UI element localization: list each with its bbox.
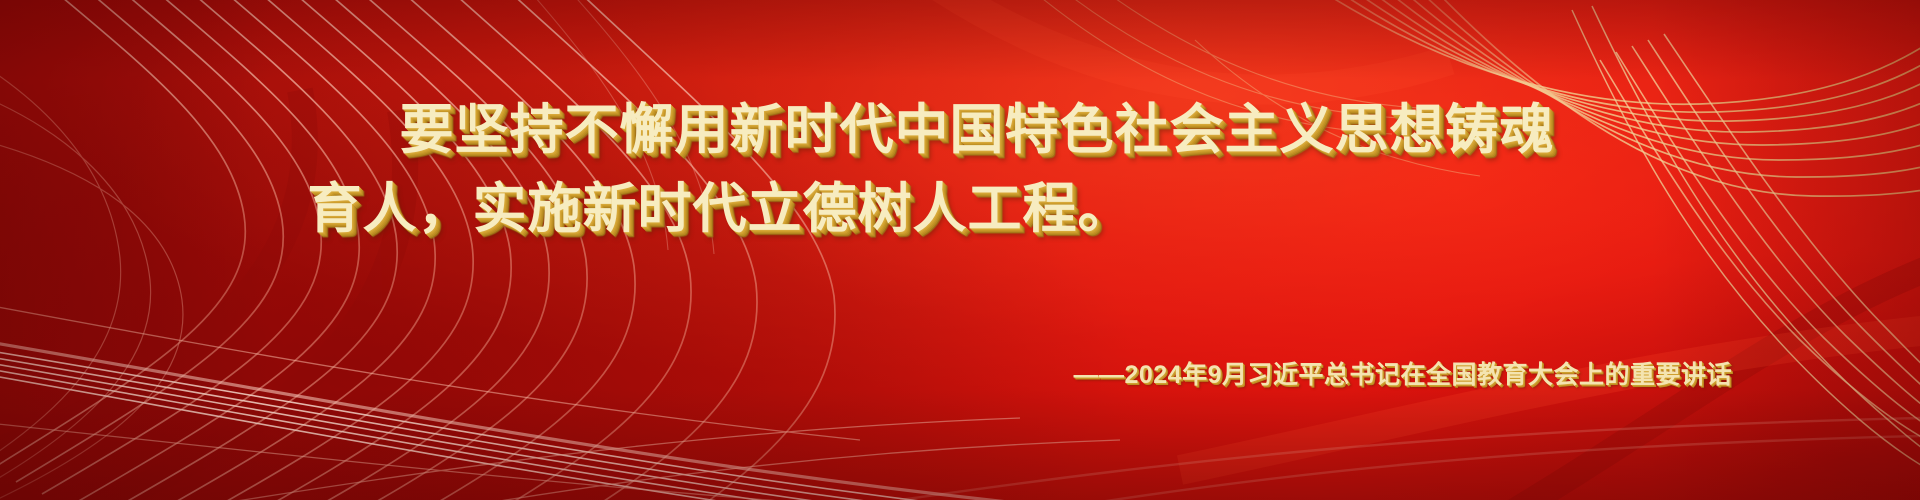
headline-quote: 要坚持不懈用新时代中国特色社会主义思想铸魂 育人，实施新时代立德树人工程。 — [0, 102, 1920, 238]
headline-line-1: 要坚持不懈用新时代中国特色社会主义思想铸魂 — [0, 102, 1920, 159]
banner-content: 要坚持不懈用新时代中国特色社会主义思想铸魂 育人，实施新时代立德树人工程。 ——… — [0, 0, 1920, 500]
quote-attribution: ——2024年9月习近平总书记在全国教育大会上的重要讲话 — [1073, 355, 1732, 391]
banner-root: 要坚持不懈用新时代中国特色社会主义思想铸魂 育人，实施新时代立德树人工程。 ——… — [0, 0, 1920, 500]
headline-line-2: 育人，实施新时代立德树人工程。 — [0, 181, 1920, 238]
